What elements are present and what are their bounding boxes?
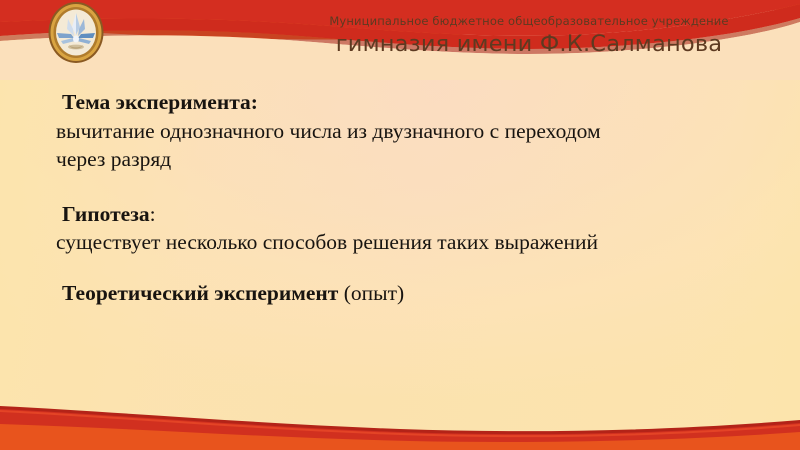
hypothesis-block: Гипотеза: существует несколько способов … (0, 200, 800, 257)
bottom-wave-decoration (0, 380, 800, 450)
topic-line-2: через разряд (0, 145, 800, 174)
spacer-hypothesis-experiment (0, 257, 800, 279)
top-wave-decoration (0, 0, 800, 80)
hypothesis-label: Гипотеза (62, 202, 150, 226)
experiment-label: Теоретический эксперимент (62, 281, 338, 305)
hypothesis-label-punct: : (150, 202, 156, 226)
experiment-block: Теоретический эксперимент (опыт) (0, 279, 800, 308)
topic-label: Тема эксперимента: (0, 88, 800, 117)
topic-line-1: вычитание однозначного числа из двузначн… (0, 117, 800, 146)
school-emblem-logo (47, 1, 105, 64)
presentation-slide: Муниципальное бюджетное общеобразователь… (0, 0, 800, 450)
experiment-suffix: (опыт) (338, 281, 404, 305)
hypothesis-label-row: Гипотеза: (0, 200, 800, 229)
slide-body-content: Тема эксперимента: вычитание однозначног… (0, 88, 800, 307)
hypothesis-line-1: существует несколько способов решения та… (0, 228, 800, 257)
topic-block: Тема эксперимента: вычитание однозначног… (0, 88, 800, 174)
experiment-row: Теоретический эксперимент (опыт) (0, 279, 800, 308)
spacer-topic-hypothesis (0, 174, 800, 200)
